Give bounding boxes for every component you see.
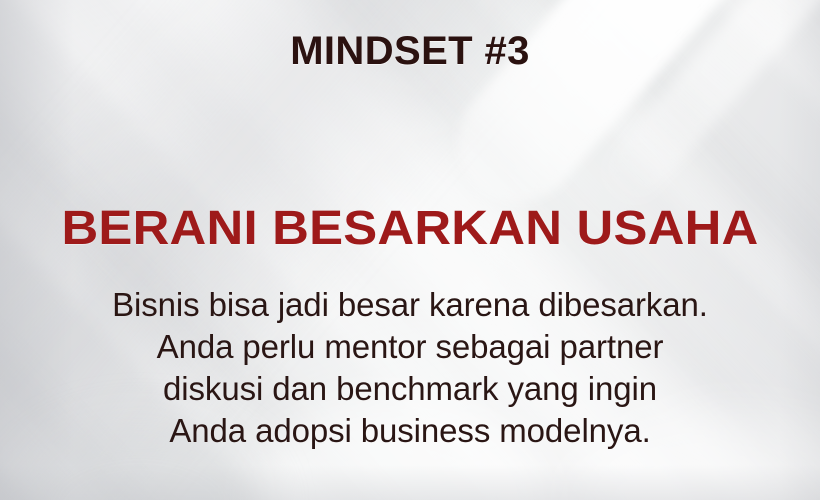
body-line: Bisnis bisa jadi besar karena dibesarkan… [50,284,770,326]
quote-card: MINDSET #3 BERANI BESARKAN USAHA Bisnis … [0,0,820,500]
card-content: MINDSET #3 BERANI BESARKAN USAHA Bisnis … [0,0,820,500]
mindset-number-title: MINDSET #3 [0,28,820,74]
body-line: diskusi dan benchmark yang ingin [50,368,770,410]
body-line: Anda perlu mentor sebagai partner [50,326,770,368]
body-line: Anda adopsi business modelnya. [50,410,770,452]
headline-text: BERANI BESARKAN USAHA [0,204,820,254]
body-paragraph: Bisnis bisa jadi besar karena dibesarkan… [50,284,770,452]
